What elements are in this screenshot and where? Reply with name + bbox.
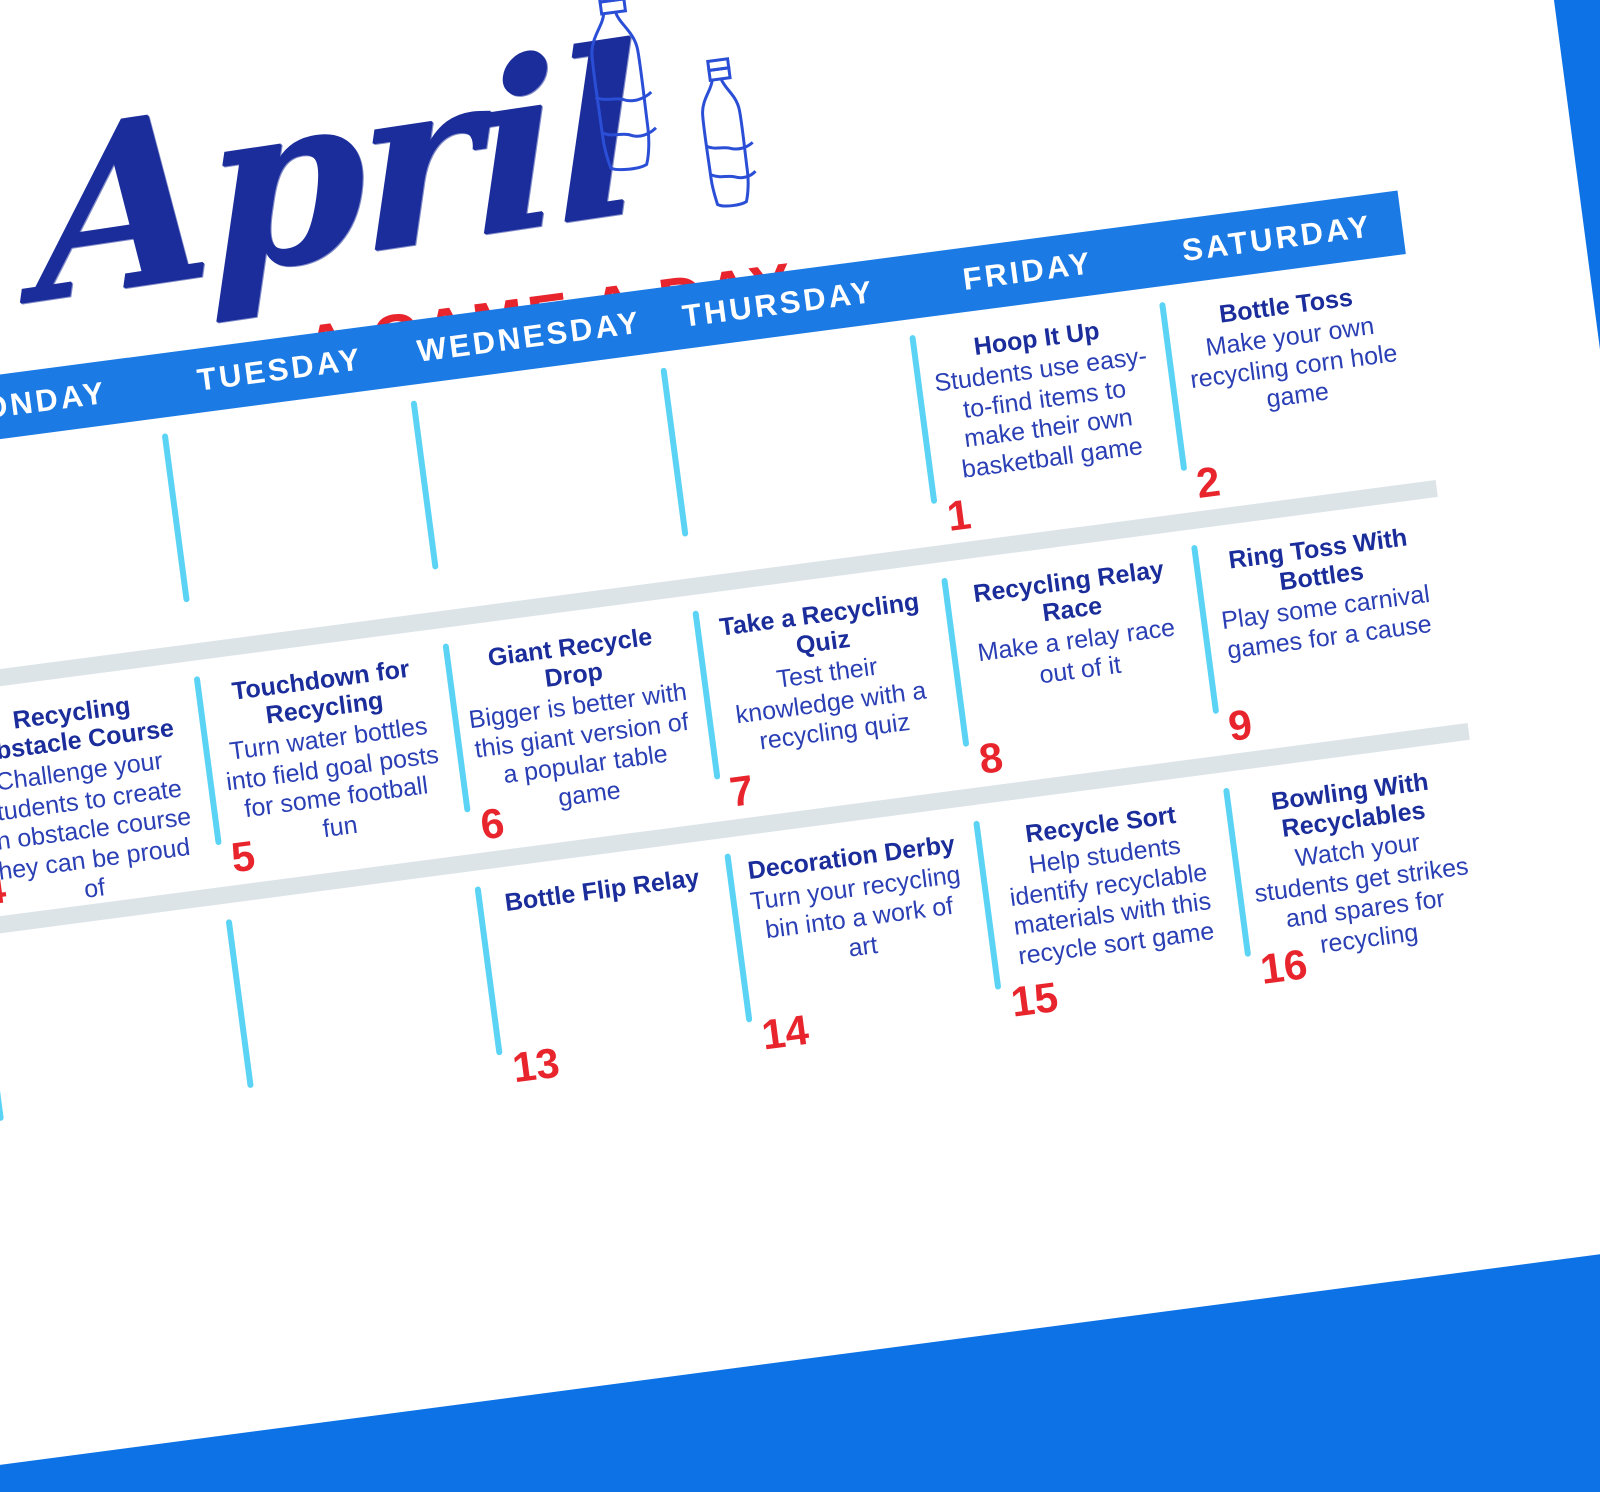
day-number: 7: [727, 769, 756, 814]
calendar-cell-day-5[interactable]: Touchdown for RecyclingTurn water bottle…: [191, 628, 470, 887]
calendar-cell-day-8[interactable]: Recycling Relay RaceMake a relay race ou…: [939, 530, 1218, 789]
day-number: 1: [945, 493, 974, 538]
calendar-cell[interactable]: [658, 320, 937, 579]
calendar-cell-day-6[interactable]: Giant Recycle DropBigger is better with …: [441, 595, 720, 854]
calendar-cell[interactable]: 11: [0, 904, 253, 1163]
day-number: 2: [1194, 460, 1223, 505]
calendar-cell[interactable]: [409, 352, 688, 611]
calendar-cell-day-4[interactable]: Recycling Obstacle CourseChallenge your …: [0, 661, 221, 920]
day-number: 16: [1258, 943, 1310, 991]
calendar-cell[interactable]: [159, 385, 438, 644]
calendar-cell-day-2[interactable]: Bottle TossMake your own recycling corn …: [1157, 254, 1436, 513]
calendar-poster: April A GAME A DAY SUNDAY MONDAY: [0, 0, 1600, 1469]
cell-rule: [0, 952, 4, 1121]
day-number: 15: [1009, 976, 1061, 1024]
calendar-cell-day-7[interactable]: Take a Recycling QuizTest their knowledg…: [690, 563, 969, 822]
day-number: 8: [977, 736, 1006, 781]
calendar-cell[interactable]: 12: [223, 871, 502, 1130]
calendar-cell[interactable]: [0, 418, 189, 677]
day-number: 14: [759, 1009, 811, 1057]
calendar-cell-day-13[interactable]: Bottle Flip Relay13: [473, 838, 752, 1097]
calendar-cell-day-14[interactable]: Decoration DerbyTurn your recycling bin …: [722, 805, 1001, 1064]
calendar-cell-day-16[interactable]: Bowling With RecyclablesWatch your stude…: [1220, 740, 1499, 999]
day-number: 9: [1226, 703, 1255, 748]
cell-description: Students use easy-to-find items to make …: [928, 341, 1165, 487]
calendar-cell-day-1[interactable]: Hoop It UpStudents use easy-to-find item…: [907, 287, 1186, 546]
bottle-icon: [684, 50, 770, 217]
cell-title: Bottle Flip Relay: [489, 862, 714, 919]
day-number: 13: [510, 1042, 562, 1090]
cell-description: Help students identify recyclable materi…: [992, 827, 1229, 973]
calendar-cell-day-9[interactable]: Ring Toss With BottlesPlay some carnival…: [1189, 497, 1468, 756]
calendar-cell-day-15[interactable]: Recycle SortHelp students identify recyc…: [971, 773, 1250, 1032]
